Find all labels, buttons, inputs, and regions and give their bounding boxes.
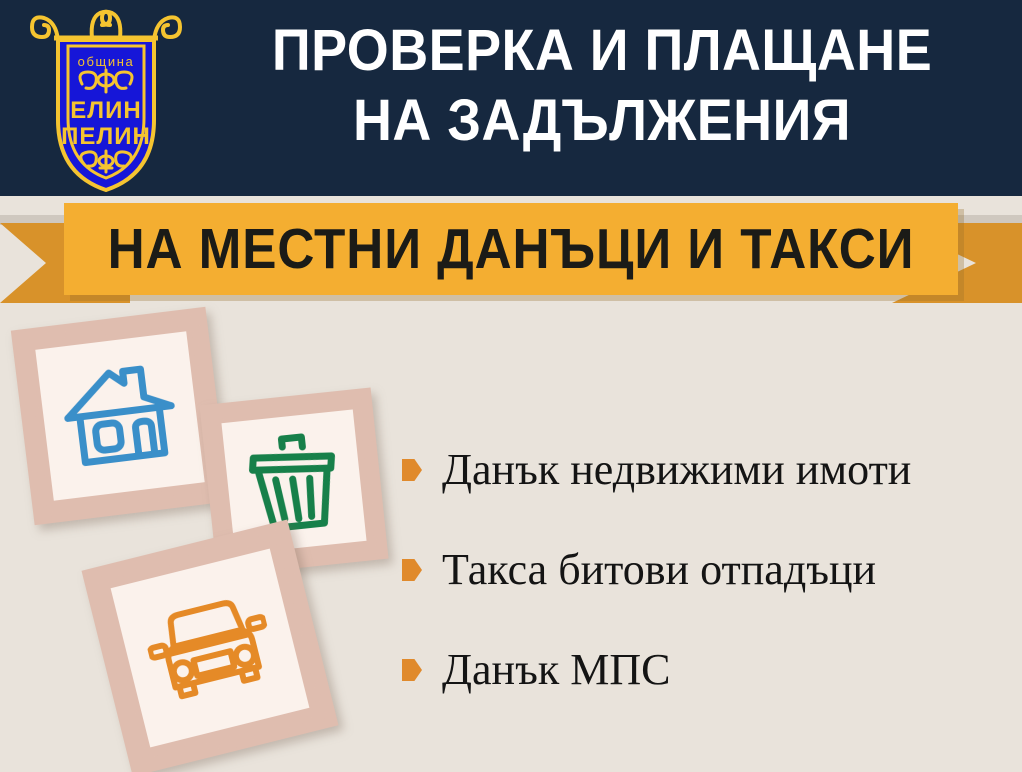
arrow-bullet-icon [402, 659, 422, 681]
tax-type-list: Данък недвижими имоти Такса битови отпад… [402, 420, 1012, 720]
crest-text-pelin: ПЕЛИН [61, 123, 151, 150]
subtitle-ribbon: НА МЕСТНИ ДАНЪЦИ И ТАКСИ [0, 195, 1022, 310]
list-item-label: Данък недвижими имоти [442, 444, 911, 496]
list-item[interactable]: Данък МПС [402, 620, 1012, 720]
crest-text-elin: ЕЛИН [70, 97, 141, 124]
stamp-card-house [11, 307, 229, 525]
stamp-paper [35, 331, 204, 500]
crest-text-obshtina: община [78, 54, 135, 69]
house-icon [58, 358, 182, 475]
car-front-icon [139, 587, 281, 710]
list-item-label: Данък МПС [442, 644, 670, 696]
ribbon-center: НА МЕСТНИ ДАНЪЦИ И ТАКСИ [64, 203, 958, 295]
municipality-crest: община ЕЛИН ПЕЛИН [30, 4, 182, 192]
ribbon-label: НА МЕСТНИ ДАНЪЦИ И ТАКСИ [109, 203, 914, 295]
arrow-bullet-icon [402, 459, 422, 481]
poster-root: община ЕЛИН ПЕЛИН ПРОВЕРКА И ПЛАЩАНЕ [0, 0, 1022, 772]
arrow-bullet-icon [402, 559, 422, 581]
list-item[interactable]: Такса битови отпадъци [402, 520, 1012, 620]
list-item-label: Такса битови отпадъци [442, 544, 876, 596]
list-item[interactable]: Данък недвижими имоти [402, 420, 1012, 520]
trash-bin-icon [243, 427, 345, 536]
